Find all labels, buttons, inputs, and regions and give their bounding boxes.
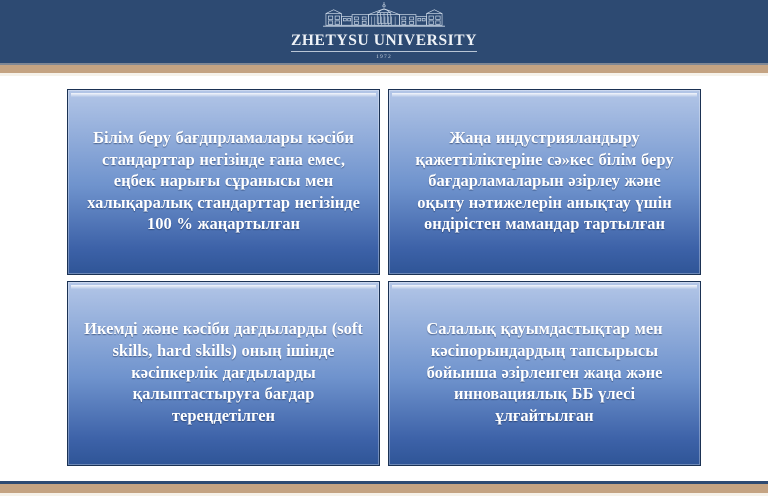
footer-gold-stripe bbox=[0, 484, 768, 493]
content-box-bottom-right-text: Салалық қауымдастықтар мен кәсіпорындард… bbox=[405, 318, 684, 426]
content-box-top-left-text: Білім беру бағдпрламалары кәсіби стандар… bbox=[84, 127, 363, 235]
content-box-bottom-right: Салалық қауымдастықтар мен кәсіпорындард… bbox=[388, 281, 701, 466]
header-cream-stripe bbox=[0, 73, 768, 76]
content-box-top-right: Жаңа индустрияландыру қажеттіліктеріне с… bbox=[388, 89, 701, 275]
content-box-bottom-left-text: Икемді және кәсіби дағдыларды (soft skil… bbox=[84, 318, 363, 426]
slide-canvas: ZHETYSU UNIVERSITY 1972 Білім беру бағдп… bbox=[0, 0, 768, 496]
content-box-grid: Білім беру бағдпрламалары кәсіби стандар… bbox=[67, 89, 701, 466]
content-box-top-left: Білім беру бағдпрламалары кәсіби стандар… bbox=[67, 89, 380, 275]
content-box-bottom-left: Икемді және кәсіби дағдыларды (soft skil… bbox=[67, 281, 380, 466]
content-box-top-right-text: Жаңа индустрияландыру қажеттіліктеріне с… bbox=[405, 127, 684, 235]
header-gold-stripe bbox=[0, 65, 768, 73]
header-band bbox=[0, 0, 768, 63]
